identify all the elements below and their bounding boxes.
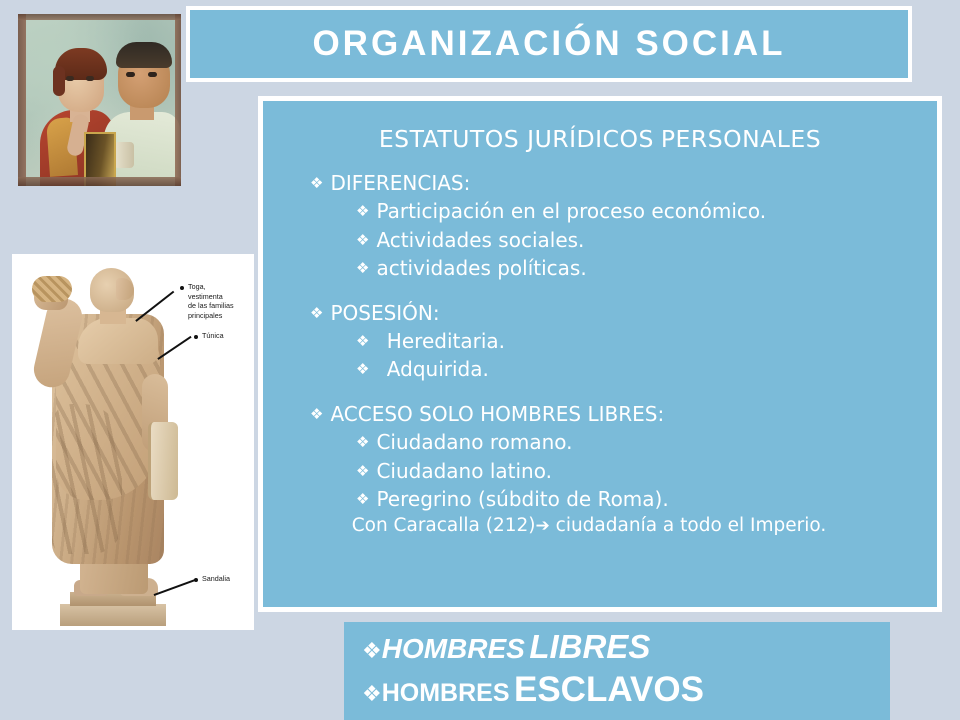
block-heading-text: DIFERENCIAS:	[330, 171, 470, 195]
content-heading: ESTATUTOS JURÍDICOS PERSONALES	[263, 125, 937, 153]
diamond-bullet-icon: ❖	[356, 331, 369, 352]
footnote-caracalla: Con Caracalla (212)➔ ciudadanía a todo e…	[263, 515, 937, 536]
diamond-bullet-icon: ❖	[310, 173, 323, 194]
fresco-man-hair	[116, 42, 172, 68]
page-title: ORGANIZACIÓN SOCIAL	[312, 24, 785, 64]
list-item: ❖Peregrino (súbdito de Roma).	[263, 485, 937, 513]
fresco-edge-top	[18, 14, 181, 20]
callout-toga-line2: vestimenta	[188, 292, 250, 302]
callout-sandalia-text: Sandalia	[202, 574, 230, 584]
footnote-text-after: ciudadanía a todo el Imperio.	[550, 515, 827, 536]
list-item: ❖ Adquirida.	[263, 355, 937, 383]
summary-line2-small: HOMBRES	[382, 679, 510, 707]
callout-line-sandalia	[154, 579, 196, 596]
diamond-bullet-icon: ❖	[356, 359, 369, 380]
list-item-text: Actividades sociales.	[376, 228, 584, 252]
roman-statue-image: Toga, vestimenta de las familias princip…	[12, 254, 254, 630]
list-item-text: Adquirida.	[380, 357, 488, 381]
list-item-text: Ciudadano latino.	[376, 459, 552, 483]
fresco-edge-left	[18, 14, 26, 186]
fresco-man-eye-right	[148, 72, 157, 77]
list-item: ❖Actividades sociales.	[263, 226, 937, 254]
list-item: ❖Ciudadano latino.	[263, 457, 937, 485]
callout-toga-line3: de las familias	[188, 301, 250, 311]
list-item-text: actividades políticas.	[376, 256, 586, 280]
summary-item-hombres-esclavos: ❖HOMBRES ESCLAVOS	[344, 666, 890, 710]
diamond-bullet-icon: ❖	[356, 432, 369, 453]
summary-line1-small: HOMBRES	[382, 633, 525, 664]
diamond-bullet-icon: ❖	[310, 404, 323, 425]
list-item-text: Participación en el proceso económico.	[376, 199, 766, 223]
bullet-block-diferencias: ❖DIFERENCIAS: ❖Participación en el proce…	[263, 169, 937, 283]
fresco-woman-eye-right	[86, 76, 94, 81]
fresco-man-eye-left	[126, 72, 135, 77]
content-heading-part1: ESTATUTOS JURÍDICOS	[379, 125, 654, 153]
pompeii-fresco-image	[18, 14, 181, 186]
bullet-block-acceso: ❖ACCESO SOLO HOMBRES LIBRES: ❖Ciudadano …	[263, 400, 937, 537]
callout-tunica-text: Túnica	[202, 331, 224, 341]
summary-line1-large: LIBRES	[529, 628, 650, 665]
diamond-bullet-icon: ❖	[356, 489, 369, 510]
fresco-man-scroll	[114, 142, 134, 168]
callout-dot-toga	[180, 286, 184, 290]
slide-title-box: ORGANIZACIÓN SOCIAL	[186, 6, 912, 82]
list-item: ❖Ciudadano romano.	[263, 428, 937, 456]
list-item-text: Hereditaria.	[380, 329, 505, 353]
statue-scroll-prop	[148, 422, 178, 500]
list-item: ❖actividades políticas.	[263, 254, 937, 282]
list-item: ❖Participación en el proceso económico.	[263, 197, 937, 225]
block-heading-text: ACCESO SOLO HOMBRES LIBRES:	[330, 402, 664, 426]
list-item: ❖ Hereditaria.	[263, 327, 937, 355]
fresco-edge-bottom	[18, 177, 181, 186]
callout-toga-line1: Toga,	[188, 282, 250, 292]
fresco-woman-hair-side	[53, 66, 65, 96]
statue-plinth	[60, 604, 166, 626]
block-heading-text: POSESIÓN:	[330, 301, 439, 325]
fresco-edge-right	[175, 14, 181, 186]
diamond-bullet-icon: ❖	[362, 639, 382, 664]
callout-toga-line4: principales	[188, 311, 250, 321]
summary-item-hombres-libres: ❖HOMBRES LIBRES	[344, 622, 890, 666]
statue-laurel-wreath	[32, 276, 72, 302]
footnote-text-before: Con Caracalla (212)	[352, 515, 536, 536]
fresco-woman-eye-left	[66, 76, 74, 81]
summary-box: ❖HOMBRES LIBRES ❖HOMBRES ESCLAVOS	[344, 622, 890, 720]
callout-label-toga: Toga, vestimenta de las familias princip…	[188, 282, 250, 320]
main-content-box: ESTATUTOS JURÍDICOS PERSONALES ❖DIFERENC…	[258, 96, 942, 612]
diamond-bullet-icon: ❖	[310, 303, 323, 324]
content-heading-part2: PERSONALES	[661, 125, 821, 153]
list-item: ❖DIFERENCIAS:	[263, 169, 937, 197]
callout-dot-tunica	[194, 335, 198, 339]
summary-line2-large: ESCLAVOS	[514, 670, 704, 709]
callout-label-sandalia: Sandalia	[202, 574, 230, 584]
list-item-text: Peregrino (súbdito de Roma).	[376, 487, 668, 511]
slide-canvas: ORGANIZACIÓN SOCIAL Toga, vestimenta de …	[0, 0, 960, 720]
diamond-bullet-icon: ❖	[356, 461, 369, 482]
list-item-text: Ciudadano romano.	[376, 430, 572, 454]
diamond-bullet-icon: ❖	[356, 258, 369, 279]
list-item: ❖POSESIÓN:	[263, 299, 937, 327]
bullet-block-posesion: ❖POSESIÓN: ❖ Hereditaria. ❖ Adquirida.	[263, 299, 937, 384]
callout-label-tunica: Túnica	[202, 331, 224, 341]
diamond-bullet-icon: ❖	[356, 230, 369, 251]
arrow-right-icon: ➔	[536, 516, 550, 536]
statue-toga-drape	[52, 404, 122, 554]
diamond-bullet-icon: ❖	[362, 682, 382, 707]
statue-chest	[78, 318, 158, 364]
diamond-bullet-icon: ❖	[356, 201, 369, 222]
list-item: ❖ACCESO SOLO HOMBRES LIBRES:	[263, 400, 937, 428]
